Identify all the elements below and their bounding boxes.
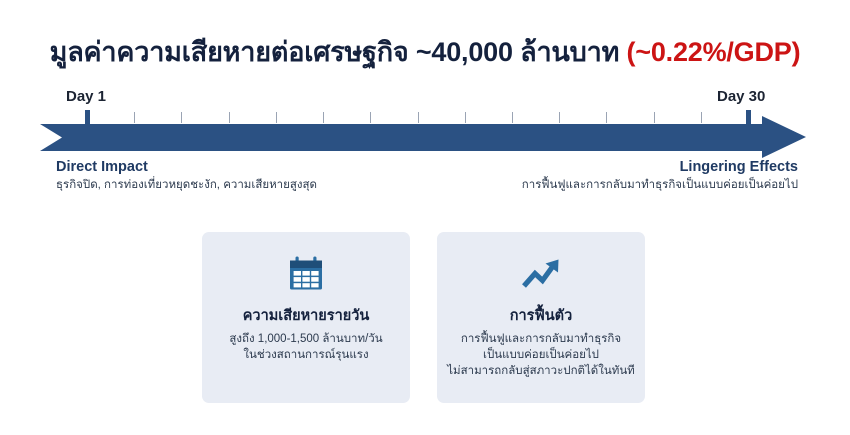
timeline: Day 1 Day 30 Direct Impact ธุรกิจปิด, กา…: [0, 88, 850, 198]
timeline-end-day-label: Day 30: [717, 88, 765, 105]
timeline-arrow-body: [40, 124, 770, 151]
page-title-accent: (~0.22%/GDP): [626, 37, 800, 67]
timeline-tick: [370, 112, 371, 123]
timeline-end-subtext: การฟื้นฟูและการกลับมาทำธุรกิจเป็นแบบค่อย…: [522, 177, 798, 194]
info-card-body: สูงถึง 1,000-1,500 ล้านบาท/วัน ในช่วงสถา…: [229, 331, 382, 363]
info-card-title: ความเสียหายรายวัน: [243, 306, 370, 326]
trending-up-icon: [520, 253, 562, 295]
timeline-start-caption: Direct Impact ธุรกิจปิด, การท่องเที่ยวหย…: [56, 158, 317, 194]
timeline-tick: [701, 112, 702, 123]
timeline-tick: [181, 112, 182, 123]
timeline-arrow-head-icon: [762, 116, 806, 158]
timeline-start-day-label: Day 1: [66, 88, 106, 105]
page-title: มูลค่าความเสียหายต่อเศรษฐกิจ ~40,000 ล้า…: [0, 30, 850, 73]
calendar-icon: [286, 253, 326, 295]
timeline-tick: [134, 112, 135, 123]
timeline-tick-marks: [0, 112, 850, 124]
info-card-group: ความเสียหายรายวัน สูงถึง 1,000-1,500 ล้า…: [0, 232, 850, 407]
timeline-tick: [418, 112, 419, 123]
timeline-tick: [512, 112, 513, 123]
timeline-start-subtext: ธุรกิจปิด, การท่องเที่ยวหยุดชะงัก, ความเ…: [56, 177, 317, 194]
slide-canvas: มูลค่าความเสียหายต่อเศรษฐกิจ ~40,000 ล้า…: [0, 0, 850, 435]
timeline-tick: [229, 112, 230, 123]
info-card-title: การฟื้นตัว: [510, 306, 572, 326]
info-card-daily-damage: ความเสียหายรายวัน สูงถึง 1,000-1,500 ล้า…: [202, 232, 410, 403]
timeline-end-caption: Lingering Effects การฟื้นฟูและการกลับมาท…: [522, 158, 798, 194]
timeline-tick: [465, 112, 466, 123]
info-card-body: การฟื้นฟูและการกลับมาทำธุรกิจ เป็นแบบค่อ…: [447, 331, 635, 379]
timeline-tick: [654, 112, 655, 123]
info-card-recovery: การฟื้นตัว การฟื้นฟูและการกลับมาทำธุรกิจ…: [437, 232, 645, 403]
timeline-tick: [606, 112, 607, 123]
timeline-start-heading: Direct Impact: [56, 158, 317, 176]
timeline-tick: [559, 112, 560, 123]
timeline-tick: [323, 112, 324, 123]
page-title-main: มูลค่าความเสียหายต่อเศรษฐกิจ ~40,000 ล้า…: [50, 37, 627, 67]
timeline-end-heading: Lingering Effects: [522, 158, 798, 176]
timeline-tick: [276, 112, 277, 123]
